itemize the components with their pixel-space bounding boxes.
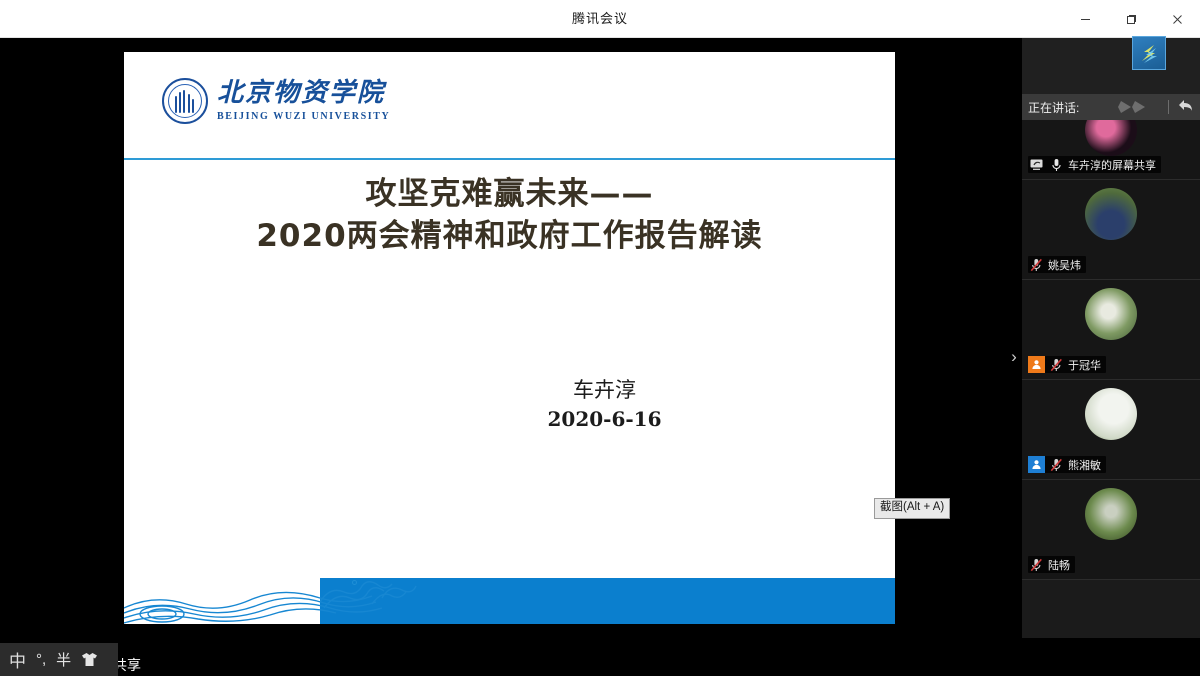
participant-badge-icon xyxy=(1028,456,1045,473)
university-name-cn: 北京物资学院 xyxy=(217,80,390,107)
speaking-label: 正在讲话: xyxy=(1028,99,1079,116)
skin-icon xyxy=(81,652,98,667)
participant-name: 姚吴炜 xyxy=(1048,257,1081,273)
avatar xyxy=(1085,120,1137,156)
minimize-button[interactable] xyxy=(1062,0,1108,38)
maximize-button[interactable] xyxy=(1108,0,1154,38)
participant-label: 陆畅 xyxy=(1028,556,1075,573)
participant-tile[interactable]: 姚吴炜 xyxy=(1022,180,1200,280)
window-title: 腾讯会议 xyxy=(0,0,1200,38)
meeting-stage: 北京物资学院 BEIJING WUZI UNIVERSITY 攻坚克难赢未来——… xyxy=(0,38,1200,638)
participant-tile[interactable]: 陆畅 xyxy=(1022,480,1200,580)
host-badge-icon xyxy=(1028,356,1045,373)
participant-label: 姚吴炜 xyxy=(1028,256,1086,273)
chevron-right-icon: › xyxy=(1011,348,1017,365)
participant-label: 于冠华 xyxy=(1028,356,1106,373)
close-icon xyxy=(1172,14,1183,25)
ime-punctuation-button[interactable]: °, xyxy=(31,643,51,676)
toolbar-divider xyxy=(1168,100,1169,114)
slide-author: 车卉淳 xyxy=(124,374,895,404)
participant-tile[interactable]: 车卉淳的屏幕共享 xyxy=(1022,120,1200,180)
slide-date: 2020-6-16 xyxy=(124,407,895,431)
sound-wave-icon xyxy=(1117,99,1159,115)
university-logo: 北京物资学院 BEIJING WUZI UNIVERSITY xyxy=(162,78,390,124)
avatar xyxy=(1085,288,1137,340)
slide-header: 北京物资学院 BEIJING WUZI UNIVERSITY xyxy=(124,52,895,159)
university-name-en: BEIJING WUZI UNIVERSITY xyxy=(217,111,390,122)
participant-name: 车卉淳的屏幕共享 xyxy=(1068,157,1156,173)
participant-tiles[interactable]: 车卉淳的屏幕共享 姚吴炜 xyxy=(1022,120,1200,638)
window-titlebar: 腾讯会议 xyxy=(0,0,1200,38)
sidebar-top-area xyxy=(1022,38,1200,94)
app-logo-icon xyxy=(1138,42,1160,64)
participant-tile[interactable]: 于冠华 xyxy=(1022,280,1200,380)
ime-toolbar[interactable]: 中 °, 半 xyxy=(0,643,118,676)
microphone-muted-icon xyxy=(1048,456,1065,473)
slide-wave-decoration xyxy=(124,578,895,624)
ime-language-button[interactable]: 中 xyxy=(4,643,31,676)
microphone-muted-icon xyxy=(1028,256,1045,273)
participant-tile[interactable]: 熊湘敏 xyxy=(1022,380,1200,480)
participant-name: 熊湘敏 xyxy=(1068,457,1101,473)
university-emblem-icon xyxy=(162,78,208,124)
avatar xyxy=(1085,488,1137,540)
shared-screen-slide[interactable]: 北京物资学院 BEIJING WUZI UNIVERSITY 攻坚克难赢未来——… xyxy=(124,52,895,624)
slide-title-line2: 2020两会精神和政府工作报告解读 xyxy=(124,216,895,258)
participant-name: 陆畅 xyxy=(1048,557,1070,573)
avatar xyxy=(1085,388,1137,440)
screenshot-tooltip: 截图(Alt + A) xyxy=(874,498,950,519)
screen-share-icon xyxy=(1028,156,1045,173)
slide-title: 攻坚克难赢未来—— 2020两会精神和政府工作报告解读 xyxy=(124,174,895,258)
expand-panel-button[interactable]: › xyxy=(1005,336,1023,376)
minimize-icon xyxy=(1080,14,1091,25)
header-divider xyxy=(124,158,895,160)
restore-icon xyxy=(1126,14,1137,25)
microphone-muted-icon xyxy=(1028,556,1045,573)
wave-graphic-icon xyxy=(124,578,895,624)
participant-name: 于冠华 xyxy=(1068,357,1101,373)
return-arrow-button[interactable] xyxy=(1178,98,1194,117)
microphone-icon xyxy=(1048,156,1065,173)
ime-width-button[interactable]: 半 xyxy=(51,643,76,676)
ime-skin-button[interactable] xyxy=(76,643,103,676)
app-icon[interactable] xyxy=(1132,36,1166,70)
speaking-status-bar: 正在讲话: xyxy=(1022,94,1200,120)
close-button[interactable] xyxy=(1154,0,1200,38)
slide-title-line1: 攻坚克难赢未来—— xyxy=(366,176,654,212)
bubble-decoration xyxy=(352,580,357,585)
participant-label: 车卉淳的屏幕共享 xyxy=(1028,156,1161,173)
window-controls xyxy=(1062,0,1200,38)
participant-label: 熊湘敏 xyxy=(1028,456,1106,473)
avatar xyxy=(1085,188,1137,240)
participants-sidebar: 正在讲话: xyxy=(1022,38,1200,638)
return-arrow-icon xyxy=(1178,98,1194,112)
microphone-muted-icon xyxy=(1048,356,1065,373)
